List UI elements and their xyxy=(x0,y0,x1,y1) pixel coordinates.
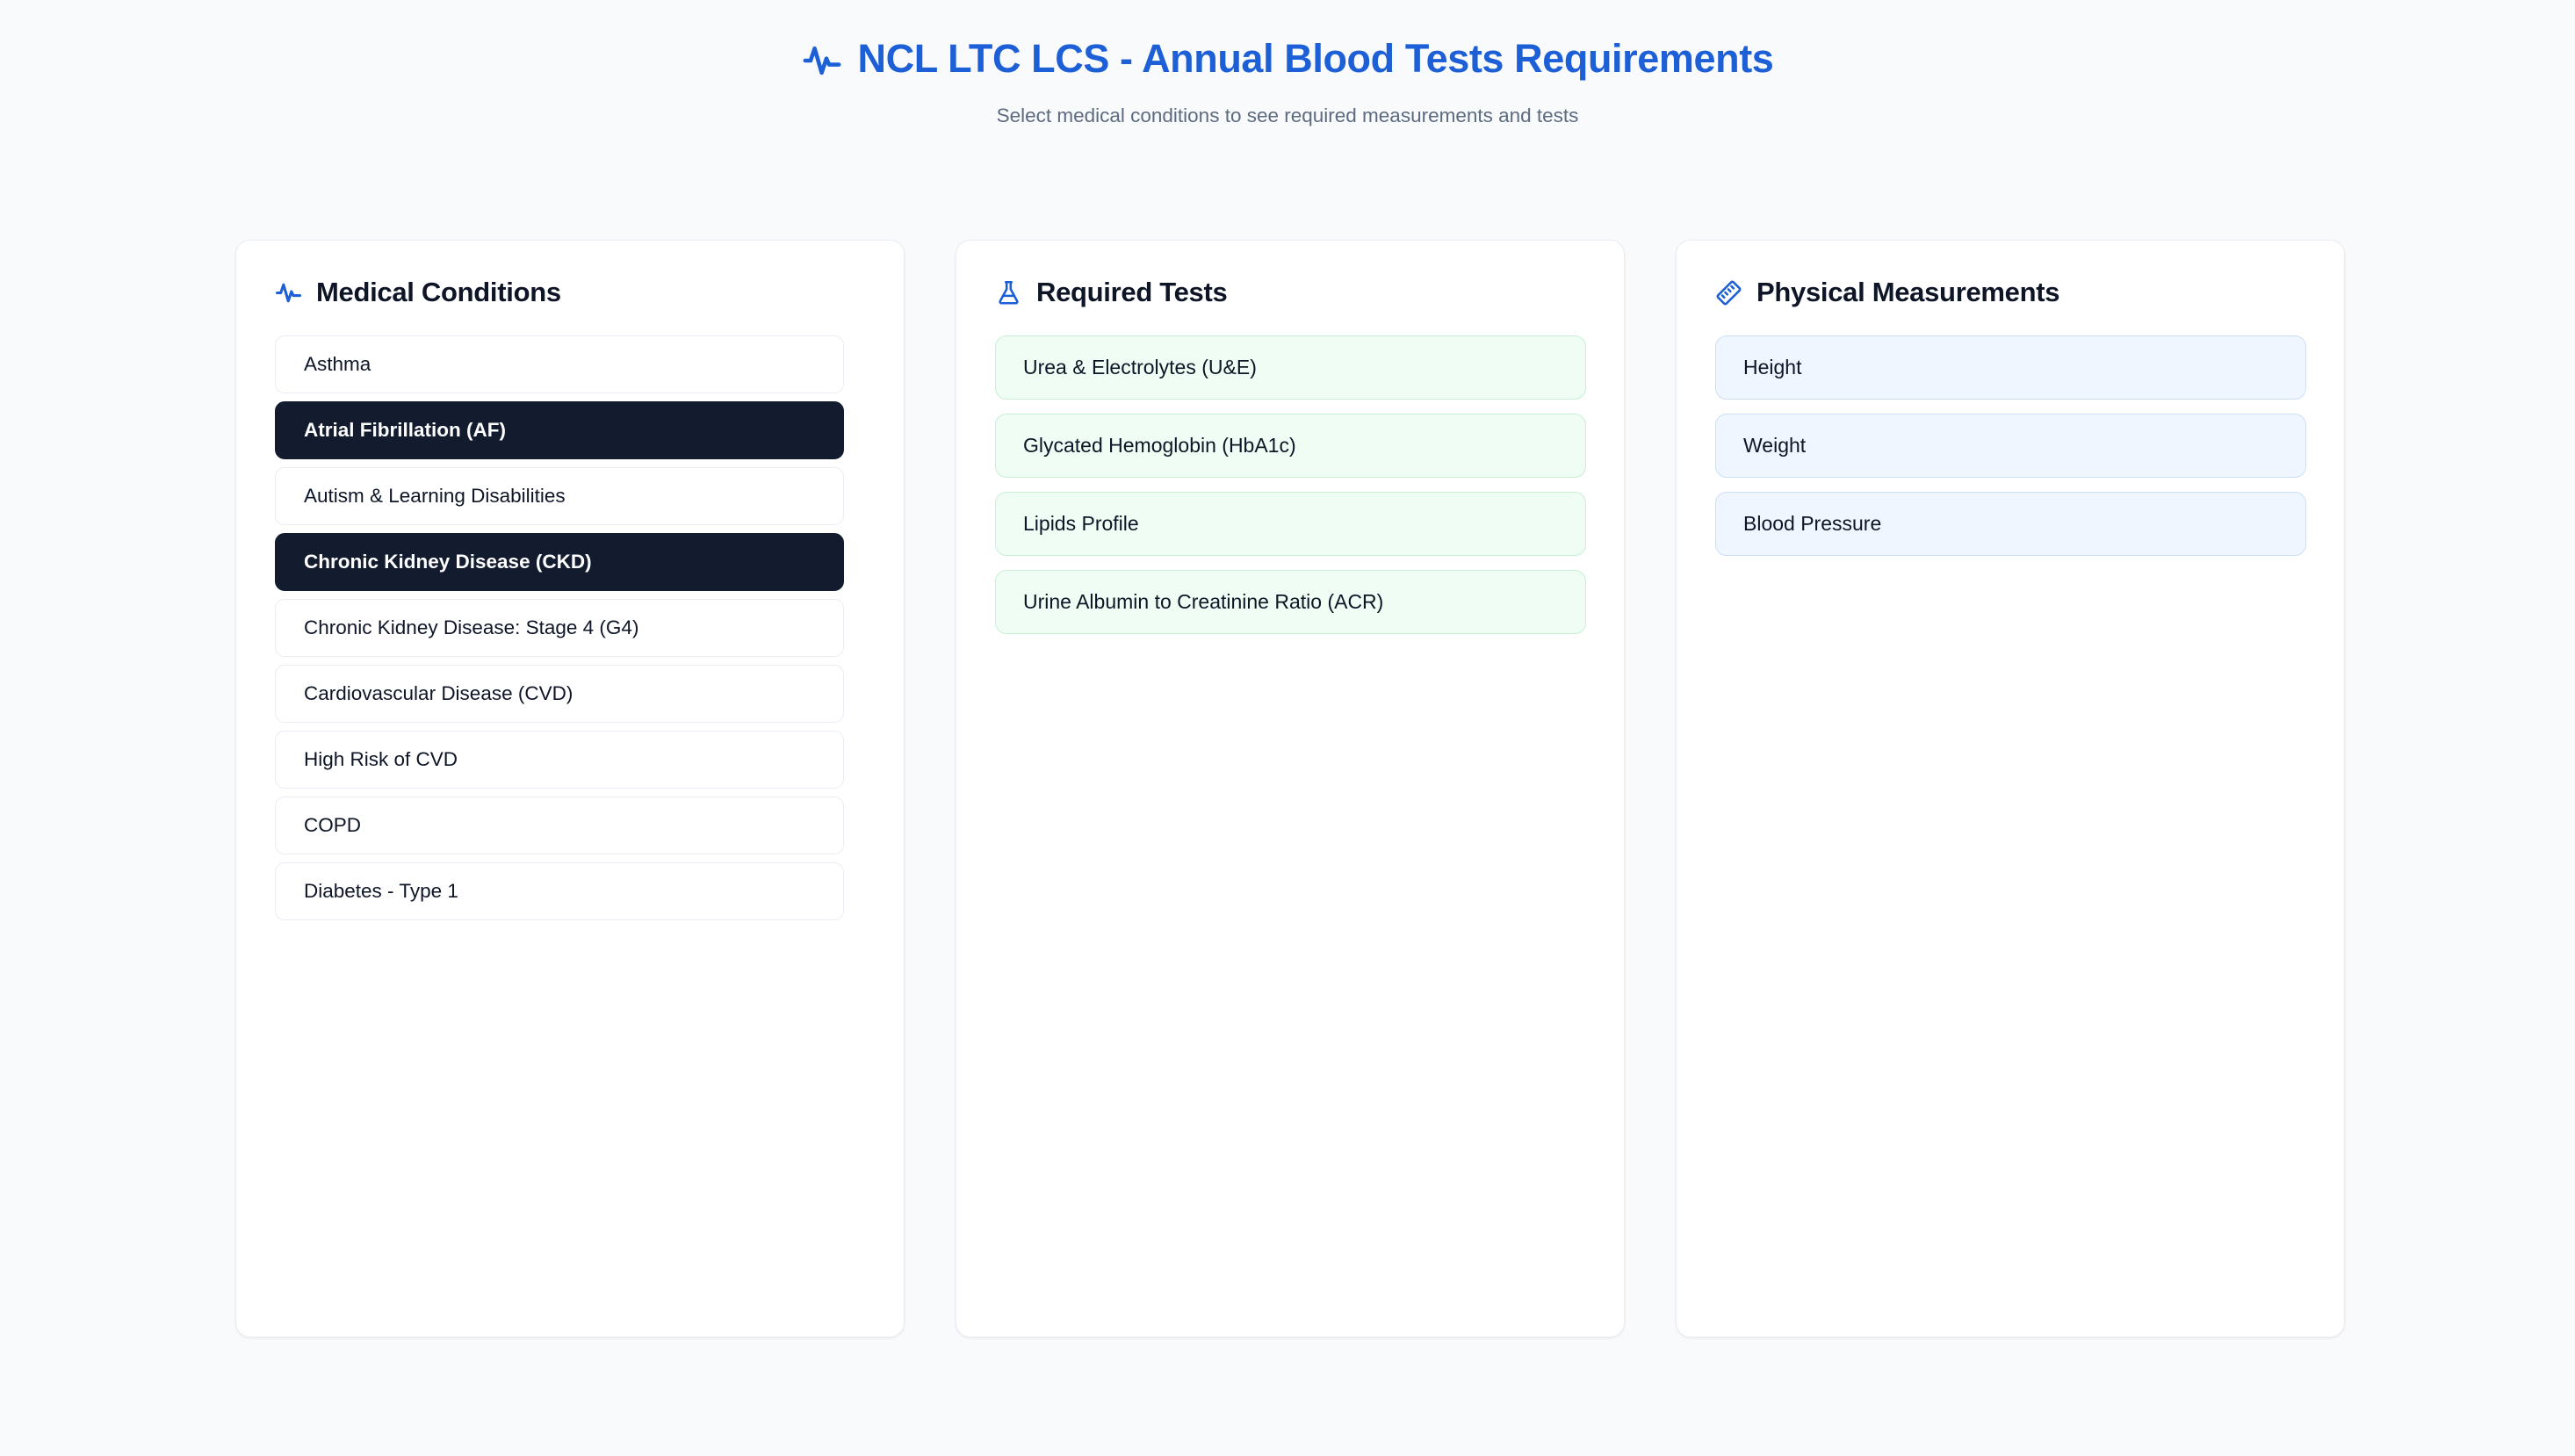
physical-measurements-list: Height Weight Blood Pressure xyxy=(1715,335,2306,556)
condition-item[interactable]: Chronic Kidney Disease: Stage 4 (G4) xyxy=(275,599,844,657)
test-item[interactable]: Lipids Profile xyxy=(995,492,1586,556)
medical-conditions-header: Medical Conditions xyxy=(275,277,865,308)
measurement-item[interactable]: Weight xyxy=(1715,414,2306,478)
panels-container: Medical Conditions Asthma Atrial Fibrill… xyxy=(235,240,2345,1337)
condition-item[interactable]: Chronic Kidney Disease (CKD) xyxy=(275,533,844,591)
ruler-icon xyxy=(1715,279,1742,306)
physical-measurements-panel: Physical Measurements Height Weight Bloo… xyxy=(1676,240,2345,1337)
page-header: NCL LTC LCS - Annual Blood Tests Require… xyxy=(0,0,2575,127)
measurement-item[interactable]: Blood Pressure xyxy=(1715,492,2306,556)
panel-title: Required Tests xyxy=(1036,277,1227,308)
medical-conditions-panel: Medical Conditions Asthma Atrial Fibrill… xyxy=(235,240,905,1337)
required-tests-panel: Required Tests Urea & Electrolytes (U&E)… xyxy=(956,240,1625,1337)
condition-item[interactable]: Cardiovascular Disease (CVD) xyxy=(275,665,844,723)
condition-item[interactable]: Atrial Fibrillation (AF) xyxy=(275,401,844,459)
condition-item[interactable]: High Risk of CVD xyxy=(275,731,844,789)
required-tests-header: Required Tests xyxy=(995,277,1585,308)
panel-title: Physical Measurements xyxy=(1756,277,2059,308)
test-item[interactable]: Glycated Hemoglobin (HbA1c) xyxy=(995,414,1586,478)
pulse-icon xyxy=(275,279,302,306)
panel-title: Medical Conditions xyxy=(316,277,561,308)
condition-item[interactable]: Diabetes - Type 1 xyxy=(275,862,844,920)
title-row: NCL LTC LCS - Annual Blood Tests Require… xyxy=(0,37,2575,81)
page-subtitle: Select medical conditions to see require… xyxy=(0,105,2575,127)
pulse-icon xyxy=(802,37,842,81)
condition-item[interactable]: Asthma xyxy=(275,335,844,393)
condition-item[interactable]: Autism & Learning Disabilities xyxy=(275,467,844,525)
test-item[interactable]: Urea & Electrolytes (U&E) xyxy=(995,335,1586,400)
page-title: NCL LTC LCS - Annual Blood Tests Require… xyxy=(858,37,1774,81)
flask-icon xyxy=(995,279,1022,306)
medical-conditions-list: Asthma Atrial Fibrillation (AF) Autism &… xyxy=(275,335,844,920)
required-tests-list: Urea & Electrolytes (U&E) Glycated Hemog… xyxy=(995,335,1586,634)
physical-measurements-header: Physical Measurements xyxy=(1715,277,2305,308)
measurement-item[interactable]: Height xyxy=(1715,335,2306,400)
test-item[interactable]: Urine Albumin to Creatinine Ratio (ACR) xyxy=(995,570,1586,634)
app-root: NCL LTC LCS - Annual Blood Tests Require… xyxy=(0,0,2575,1456)
condition-item[interactable]: COPD xyxy=(275,796,844,854)
